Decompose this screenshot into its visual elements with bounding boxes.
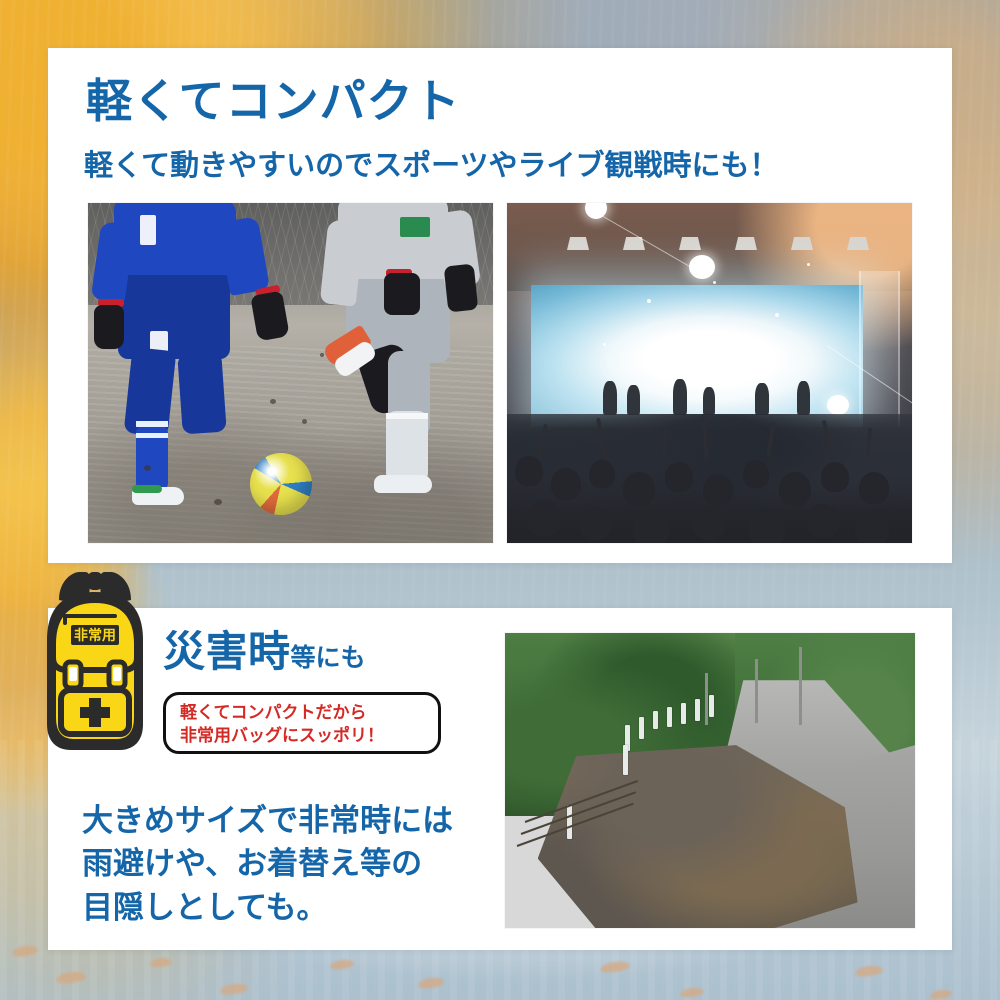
guardrail-post-fallen [623, 745, 628, 775]
crowd-head [623, 472, 655, 506]
blue-player-sock-stripe [136, 433, 168, 438]
balloon [827, 395, 849, 415]
dirt-speck [144, 465, 151, 471]
stage-lamp-icon [679, 237, 701, 250]
utility-pole [705, 673, 708, 725]
bottom-copy-line-3: 目隠しとしても。 [82, 887, 453, 930]
bottom-copy-line-2: 雨避けや、お着替え等の [82, 843, 453, 886]
blue-player-right-leg [177, 352, 226, 435]
dirt-speck [270, 399, 276, 404]
backpack-top-handle [88, 572, 102, 590]
crowd-head [527, 500, 561, 536]
backpack-left-buckle-inner [69, 667, 77, 681]
page-title: 軽くてコンパクト [86, 74, 461, 128]
gray-player-sock-stripe [386, 413, 428, 419]
guardrail-post [695, 699, 700, 721]
guardrail-post [639, 717, 644, 739]
speaker-tower [859, 271, 899, 427]
crowd-head [779, 472, 811, 506]
guardrail-post [667, 707, 672, 727]
stage-lamp-icon [791, 237, 813, 250]
raised-arm [866, 428, 872, 456]
crowd-head [821, 462, 849, 492]
light-spark [807, 263, 810, 266]
crowd-head [855, 510, 889, 543]
crowd-head [743, 460, 769, 488]
raised-arm [822, 420, 832, 456]
raised-arm [596, 418, 606, 458]
performer-silhouette [673, 379, 687, 415]
promo-page: 軽くてコンパクト 軽くて動きやすいのでスポーツやライブ観戦時にも！ [0, 0, 1000, 1000]
crowd-head [633, 510, 669, 543]
callout-line-1: 軽くてコンパクトだから [180, 702, 384, 725]
blue-player-left-glove [94, 305, 124, 349]
bottom-copy-line-1: 大きめサイズで非常時には [82, 800, 453, 843]
gray-player-number-38 [400, 217, 430, 237]
guardrail-post [709, 695, 714, 717]
performer-silhouette [627, 385, 640, 415]
disaster-heading: 災害時等にも [163, 618, 366, 679]
blue-player-shorts [118, 275, 230, 359]
dirt-speck [214, 499, 222, 505]
blue-player-sock-stripe [136, 421, 168, 427]
callout-bubble-text: 軽くてコンパクトだから 非常用バッグにスッポリ！ [180, 702, 384, 749]
page-subtitle: 軽くて動きやすいのでスポーツやライブ観戦時にも！ [84, 148, 779, 183]
raised-arm [701, 414, 708, 458]
light-spark [603, 343, 606, 346]
raised-arm [538, 424, 547, 456]
stage-lamp-icon [567, 237, 589, 250]
stage-lamp-icon [847, 237, 869, 250]
performer-silhouette [755, 383, 769, 415]
bottom-copy: 大きめサイズで非常時には 雨避けや、お着替え等の 目隠しとしても。 [82, 800, 453, 930]
callout-line-2: 非常用バッグにスッポリ！ [180, 725, 384, 748]
road-collapse-photo [505, 633, 915, 928]
backpack-label-text: 非常用 [74, 627, 116, 644]
blue-player-shoe-accent [132, 485, 162, 493]
dirt-speck [320, 353, 324, 357]
utility-pole [799, 647, 802, 725]
crowd-head [807, 504, 839, 538]
guardrail-post [681, 703, 686, 724]
gray-player-sock [386, 411, 428, 483]
crowd-head [859, 472, 889, 504]
guardrail-post [653, 711, 658, 729]
crowd [507, 414, 912, 543]
gray-player-shoe [374, 475, 432, 493]
performer-silhouette [603, 381, 617, 415]
light-spark [713, 281, 716, 284]
raised-arm [661, 426, 668, 456]
performer-silhouette [797, 381, 810, 415]
crowd-head [589, 460, 615, 488]
blue-player-number-top [140, 215, 156, 245]
concert-photo [507, 203, 912, 543]
crowd-head [749, 510, 785, 543]
utility-pole [755, 659, 758, 723]
emergency-backpack-illustration: 非常用 [33, 566, 157, 764]
light-spark [647, 299, 651, 303]
backpack-right-buckle-inner [113, 667, 121, 681]
disaster-heading-main: 災害時 [163, 627, 291, 676]
crowd-head [579, 506, 611, 540]
stage-lamp-icon [735, 237, 757, 250]
balloon [689, 255, 715, 279]
stage-led-screen [531, 285, 863, 428]
crowd-head [551, 468, 581, 500]
crowd-head [703, 474, 733, 506]
raised-arm [767, 422, 776, 456]
crowd-head [665, 462, 693, 492]
light-spark [775, 313, 779, 317]
crowd-head [515, 456, 543, 486]
soccer-ball [250, 453, 312, 515]
gray-player-left-glove [384, 273, 420, 315]
gray-player-right-glove [444, 264, 479, 313]
crowd-head [693, 506, 725, 540]
callout-bubble: 軽くてコンパクトだから 非常用バッグにスッポリ！ [163, 692, 441, 754]
soccer-photo [88, 203, 493, 543]
disaster-heading-suffix: 等にも [291, 643, 366, 672]
guardrail-post-fallen [567, 805, 572, 839]
performer-silhouette [703, 387, 715, 415]
dirt-speck [302, 419, 307, 424]
